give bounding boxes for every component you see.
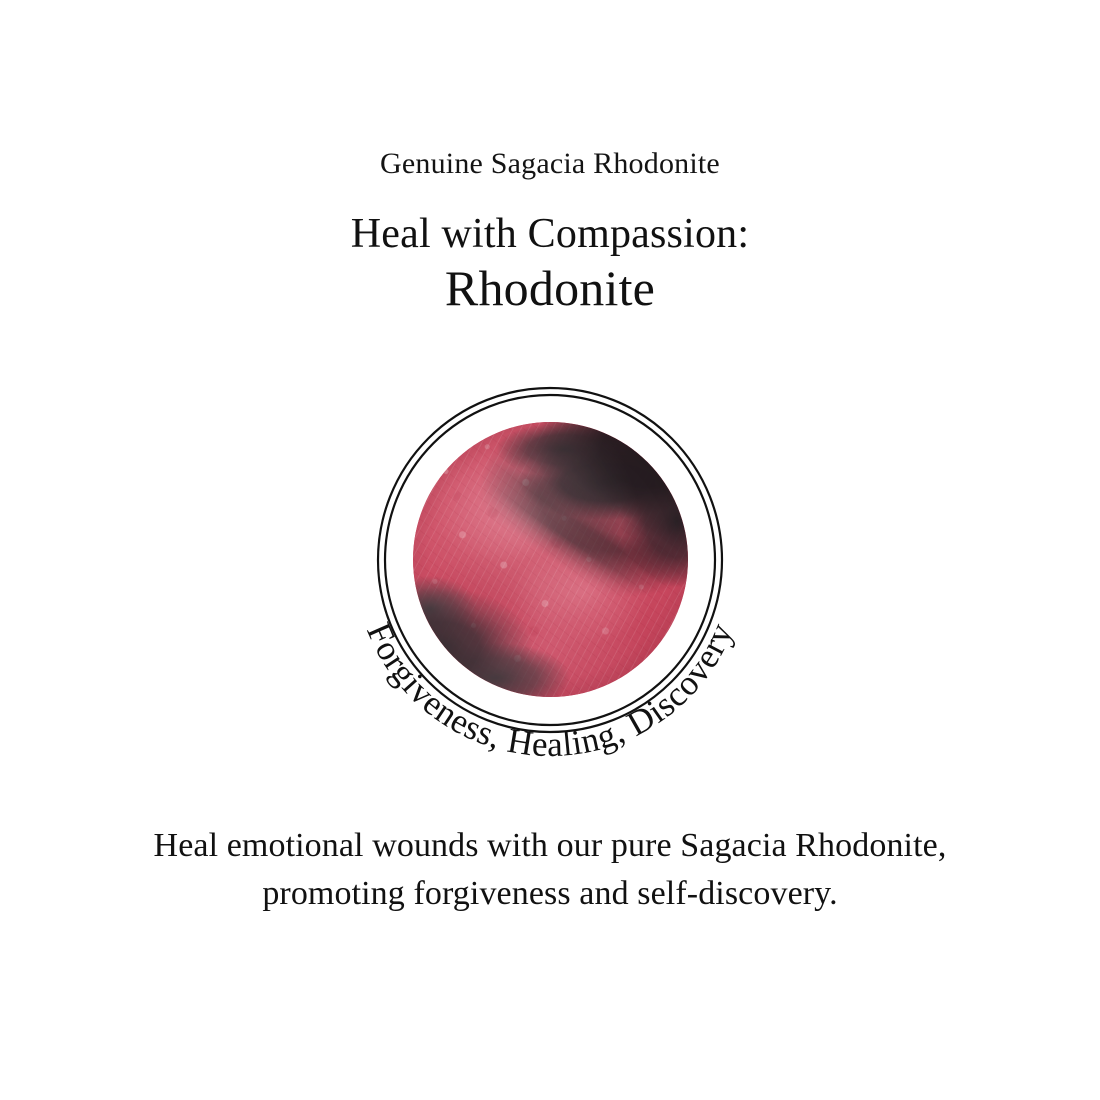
eyebrow-text: Genuine Sagacia Rhodonite [0,0,1100,180]
tagline-line-2: promoting forgiveness and self-discovery… [0,870,1100,918]
header-text-block: Genuine Sagacia Rhodonite Heal with Comp… [0,0,1100,318]
badge-svg: Forgiveness, Healing, Discovery [320,330,780,790]
headline-line-2: Rhodonite [0,259,1100,318]
page-title: Heal with Compassion: Rhodonite [0,180,1100,318]
badge-inner-ring [385,395,715,725]
product-card: Genuine Sagacia Rhodonite Heal with Comp… [0,0,1100,1100]
tagline-line-1: Heal emotional wounds with our pure Saga… [0,822,1100,870]
badge-curved-text: Forgiveness, Healing, Discovery [359,617,741,764]
headline-line-1: Heal with Compassion: [0,210,1100,259]
tagline-text: Heal emotional wounds with our pure Saga… [0,822,1100,919]
badge-curved-textpath: Forgiveness, Healing, Discovery [359,617,741,764]
